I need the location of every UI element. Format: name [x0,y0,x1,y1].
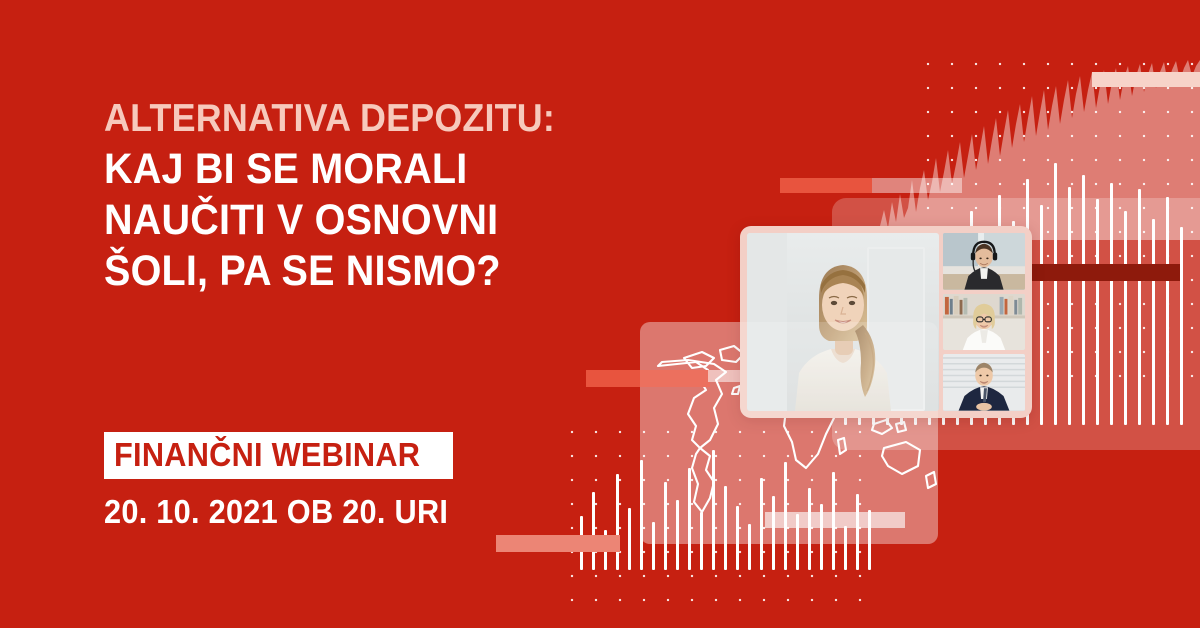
bar-line [1068,187,1071,425]
bar-line [1096,199,1099,425]
bar-line [1124,211,1127,425]
bar-line [1054,163,1057,425]
bar-line [664,482,667,570]
bar-line [724,486,727,570]
accent-bar-coral-map [586,370,710,387]
bar-line [1138,189,1141,425]
bar-line [856,494,859,570]
bar-line [1166,197,1169,425]
webinar-datetime: 20. 10. 2021 OB 20. URI [104,493,474,531]
bar-line [652,522,655,570]
accent-bar-pale-top [872,178,962,193]
thumbnail-participant-2[interactable] [943,294,1025,351]
accent-bar-pale-bottom [765,512,905,528]
headline-eyebrow: ALTERNATIVA DEPOZITU: [104,96,619,142]
decorative-graphic-composition [0,0,1200,628]
bar-line [1040,205,1043,425]
thumbnail-column [943,233,1025,411]
headline-block: ALTERNATIVA DEPOZITU: KAJ BI SE MORALI N… [104,96,664,297]
bar-line [844,526,847,570]
accent-bar-pale-top-right [1092,72,1200,87]
bar-line [760,478,763,570]
webinar-datetime-label: 20. 10. 2021 OB 20. URI [104,493,448,531]
webinar-badge-label: FINANČNI WEBINAR [114,436,420,474]
bar-line [1110,183,1113,425]
webinar-badge: FINANČNI WEBINAR [104,432,453,479]
bar-line [592,492,595,570]
headline-line-1: KAJ BI SE MORALI [104,144,619,195]
bar-line [1082,175,1085,425]
bar-line [1180,227,1183,425]
cta-block: FINANČNI WEBINAR 20. 10. 2021 OB 20. URI [104,432,474,531]
bar-line [712,450,715,570]
headline-line-2: NAUČITI V OSNOVNI [104,195,619,246]
bar-line [640,460,643,570]
bar-line [736,506,739,570]
thumbnail-participant-3[interactable] [943,354,1025,411]
bar-line [772,496,775,570]
bar-line [748,524,751,570]
headline-line-3: ŠOLI, PA SE NISMO? [104,246,619,297]
bar-lines-bottom-icon [576,440,876,570]
bar-line [628,508,631,570]
page-title: KAJ BI SE MORALI NAUČITI V OSNOVNI ŠOLI,… [104,144,619,297]
accent-bar-maroon [1020,264,1180,281]
bar-line [616,474,619,570]
bar-line [1152,219,1155,425]
bar-line [676,500,679,570]
bar-line [808,488,811,570]
main-video-pane[interactable] [747,233,939,411]
video-call-card[interactable] [740,226,1032,418]
webinar-promo-banner: ALTERNATIVA DEPOZITU: KAJ BI SE MORALI N… [0,0,1200,628]
thumbnail-participant-1[interactable] [943,233,1025,290]
accent-bar-coral-top [780,178,872,193]
accent-bar-salmon-bottom-left [496,535,620,552]
bar-line [700,512,703,570]
bar-line [688,468,691,570]
